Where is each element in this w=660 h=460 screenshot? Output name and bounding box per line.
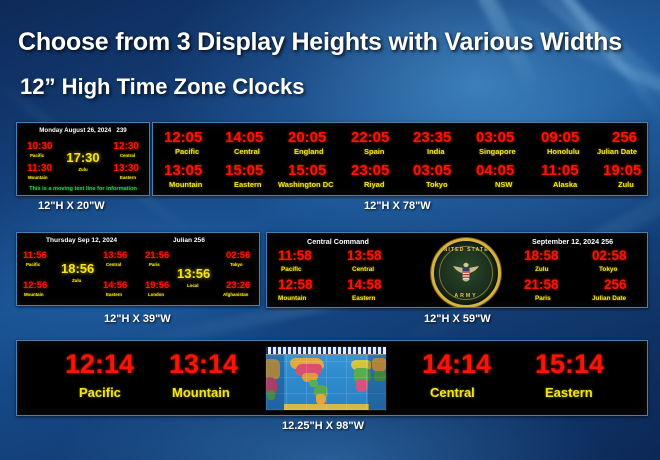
time-label: Eastern — [234, 180, 262, 189]
display1-header-date: Monday August 26, 2024 — [39, 127, 111, 134]
time-label: Eastern — [545, 385, 593, 400]
time-value: 12:14 — [65, 349, 134, 380]
time-label: Singapore — [479, 147, 516, 156]
time-label: Pacific — [79, 385, 121, 400]
time-label: Eastern — [120, 175, 136, 180]
time-label: Central — [352, 266, 374, 273]
time-value: 13:56 — [103, 250, 127, 261]
time-label: Julian Date — [592, 295, 626, 302]
map-edge-shade — [368, 354, 386, 410]
seal-top-text: UNITED STATES — [434, 247, 498, 253]
caption-12x98: 12.25"H X 98"W — [282, 420, 364, 432]
time-value: 11:30 — [27, 163, 52, 174]
time-value: 19:05 — [603, 162, 641, 179]
world-map-graphic — [265, 346, 387, 411]
time-value: 02:58 — [592, 248, 627, 263]
time-value: 256 — [612, 129, 637, 146]
time-label: Zulu — [618, 180, 634, 189]
time-value: 14:58 — [347, 277, 382, 292]
time-label: Central — [120, 153, 135, 158]
us-army-seal-icon: UNITED STATES ARMY — [431, 238, 501, 308]
map-edge-shade — [266, 354, 284, 410]
time-value: 13:30 — [113, 163, 139, 174]
time-value: 12:05 — [164, 129, 202, 146]
time-label: Mountain — [28, 175, 48, 180]
time-label: Paris — [149, 262, 160, 267]
clock-display-12x59: Central Command September 12, 2024 256 1… — [266, 232, 648, 308]
center-time-value: 17:30 — [66, 150, 99, 165]
time-value: 12:56 — [23, 280, 47, 291]
time-label: Central — [106, 262, 121, 267]
time-value: 03:05 — [413, 162, 451, 179]
time-label: Washington DC — [278, 180, 334, 189]
time-label: Tokyo — [230, 262, 243, 267]
clock-display-12x78: 12:05 Pacific 14:05 Central 20:05 Englan… — [152, 122, 648, 196]
time-label: India — [427, 147, 445, 156]
time-value: 13:05 — [164, 162, 202, 179]
time-label: Tokyo — [599, 266, 617, 273]
time-value: 19:56 — [145, 280, 169, 291]
time-label: Riyad — [364, 180, 384, 189]
time-value: 14:14 — [422, 349, 491, 380]
time-value: 15:05 — [225, 162, 263, 179]
center-time-label: Zulu — [78, 167, 87, 172]
display1-header-julian: 239 — [116, 127, 126, 134]
time-value: 12:30 — [113, 141, 139, 152]
time-value: 21:56 — [145, 250, 169, 261]
time-label: Mountain — [278, 295, 306, 302]
center-time-label: Local — [187, 283, 198, 288]
center-time-value: 13:56 — [177, 266, 210, 281]
time-value: 14:56 — [103, 280, 127, 291]
time-label: NSW — [495, 180, 513, 189]
caption-12x39: 12"H X 39"W — [104, 313, 171, 325]
time-value: 14:05 — [225, 129, 263, 146]
clock-display-12x39: Thursday Sep 12, 2024 Julian 256 11:56 P… — [16, 232, 260, 306]
time-value: 10:30 — [27, 141, 53, 152]
slide-canvas: Choose from 3 Display Heights with Vario… — [0, 0, 660, 460]
clock-display-12x98: 12:14 Pacific 13:14 Mountain 14:14 Centr… — [16, 340, 648, 416]
caption-12x78: 12"H X 78"W — [364, 200, 431, 212]
background-streak — [423, 0, 660, 136]
time-label: Alaska — [553, 180, 577, 189]
display3-header-date: Thursday Sep 12, 2024 — [46, 237, 117, 244]
time-value: 256 — [604, 277, 627, 292]
clock-display-12x20: Monday August 26, 2024 239 10:30 Pacific… — [16, 122, 150, 196]
time-value: 11:58 — [278, 248, 312, 263]
time-value: 12:58 — [278, 277, 313, 292]
time-label: England — [294, 147, 324, 156]
time-value: 04:05 — [476, 162, 514, 179]
time-label: London — [148, 292, 164, 297]
time-value: 13:58 — [347, 248, 382, 263]
time-value: 15:05 — [288, 162, 326, 179]
time-label: Pacific — [26, 262, 40, 267]
display3-header-julian: Julian 256 — [173, 237, 205, 244]
display4-header-title: Central Command — [307, 237, 369, 246]
time-value: 21:58 — [524, 277, 559, 292]
time-value: 22:05 — [351, 129, 389, 146]
time-value: 02:56 — [226, 250, 250, 261]
time-value: 23:05 — [351, 162, 389, 179]
slide-title: Choose from 3 Display Heights with Vario… — [18, 28, 648, 57]
time-value: 11:56 — [23, 250, 47, 261]
time-value: 03:05 — [476, 129, 514, 146]
eagle-icon — [451, 260, 481, 286]
time-label: Pacific — [30, 153, 44, 158]
slide-subtitle: 12” High Time Zone Clocks — [20, 74, 304, 100]
center-time-label: Zulu — [72, 278, 81, 283]
time-value: 20:05 — [288, 129, 326, 146]
center-time-value: 18:56 — [61, 261, 94, 276]
time-label: Pacific — [175, 147, 199, 156]
time-label: Spain — [364, 147, 384, 156]
time-value: 23:26 — [226, 280, 250, 291]
time-label: Eastern — [352, 295, 375, 302]
time-label: Mountain — [172, 385, 230, 400]
display4-header-date: September 12, 2024 256 — [532, 237, 613, 246]
caption-12x20: 12"H X 20"W — [38, 200, 105, 212]
time-label: Honolulu — [547, 147, 580, 156]
time-value: 23:35 — [413, 129, 451, 146]
time-label: Central — [234, 147, 260, 156]
time-value: 18:58 — [524, 248, 559, 263]
map-led-strip — [266, 347, 386, 355]
scrolling-message: This is a moving text line for informati… — [29, 186, 137, 192]
time-label: Afghanistan — [223, 292, 248, 297]
caption-12x59: 12"H X 59"W — [424, 313, 491, 325]
time-value: 15:14 — [535, 349, 604, 380]
time-label: Julian Date — [597, 147, 637, 156]
time-value: 09:05 — [541, 129, 579, 146]
display1-header: Monday August 26, 2024 239 — [39, 127, 126, 134]
time-label: Zulu — [535, 266, 549, 273]
time-value: 11:05 — [541, 162, 579, 179]
time-label: Tokyo — [426, 180, 448, 189]
background-streak — [458, 0, 660, 126]
time-label: Central — [430, 385, 475, 400]
time-label: Pacific — [281, 266, 302, 273]
time-value: 13:14 — [169, 349, 238, 380]
time-label: Eastern — [106, 292, 122, 297]
time-label: Paris — [535, 295, 551, 302]
seal-bottom-text: ARMY — [434, 293, 498, 299]
time-label: Mountain — [24, 292, 44, 297]
time-label: Mountain — [169, 180, 202, 189]
